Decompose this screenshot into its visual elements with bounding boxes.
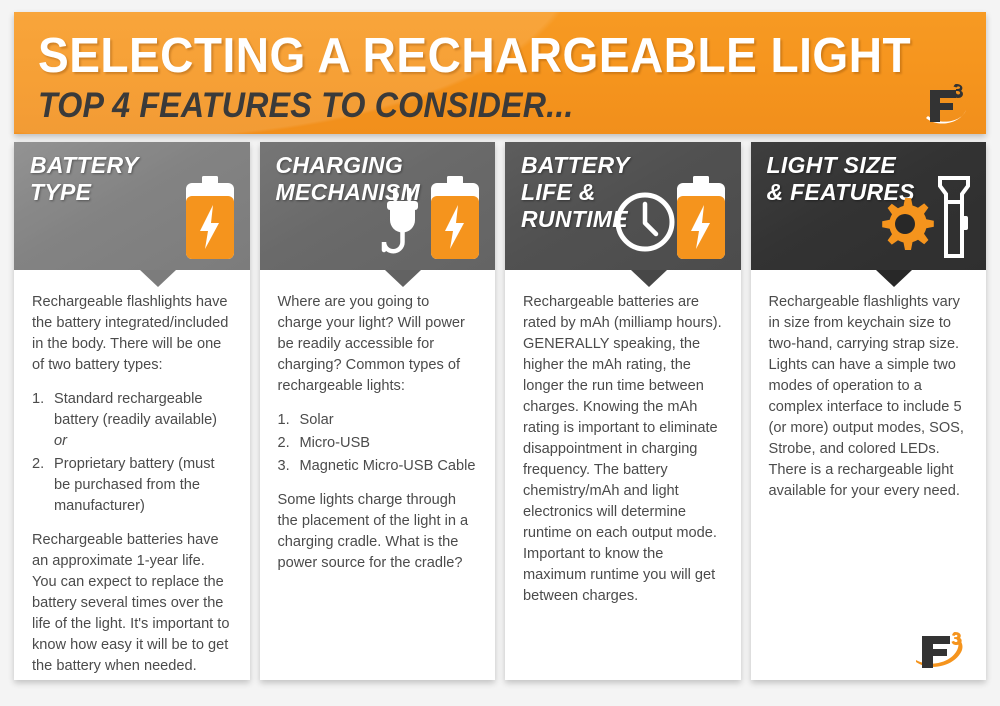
card-header-battery-type: BATTERY TYPE (14, 142, 250, 270)
card-title-line-2: LIFE & (521, 179, 596, 205)
card-light-size-features[interactable]: LIGHT SIZE & FEATURES R (751, 142, 987, 680)
card-body-charging-mechanism: Where are you going to charge your light… (260, 270, 496, 590)
battery-icon (182, 174, 238, 262)
f3-logo-footer-icon (910, 632, 968, 672)
paragraph: Rechargeable batteries have an approxima… (32, 530, 232, 677)
feature-cards-row: BATTERY TYPE Rechargeable flashlights ha… (14, 142, 986, 680)
card-body-battery-life-runtime: Rechargeable batteries are rated by mAh … (505, 270, 741, 623)
card-charging-mechanism[interactable]: CHARGING MECHANISM (260, 142, 496, 680)
paragraph: Where are you going to charge your light… (278, 292, 478, 397)
card-notch (385, 270, 421, 287)
battery-icon (427, 174, 483, 262)
card-title-line-2: TYPE (30, 179, 91, 205)
header-banner: SELECTING A RECHARGEABLE LIGHT TOP 4 FEA… (14, 12, 986, 134)
battery-icon (673, 174, 729, 262)
paragraph: Rechargeable flashlights have the batter… (32, 292, 232, 376)
list-item-suffix: or (54, 433, 67, 449)
infographic-page: SELECTING A RECHARGEABLE LIGHT TOP 4 FEA… (0, 0, 1000, 706)
card-battery-type[interactable]: BATTERY TYPE Rechargeable flashlights ha… (14, 142, 250, 680)
card-notch (140, 270, 176, 287)
clock-icon (613, 190, 677, 254)
card-header-battery-life-runtime: BATTERY LIFE & RUNTIME (505, 142, 741, 270)
card-title-line-1: BATTERY (30, 152, 139, 178)
list-item: Magnetic Micro-USB Cable (278, 456, 478, 477)
list-item: Proprietary battery (must be purchased f… (32, 454, 232, 517)
card-icon-group-light-size-features (874, 170, 974, 262)
card-body-light-size-features: Rechargeable flashlights vary in size fr… (751, 270, 987, 518)
list-item: Solar (278, 410, 478, 431)
card-header-light-size-features: LIGHT SIZE & FEATURES (751, 142, 987, 270)
paragraph: Some lights charge through the placement… (278, 490, 478, 574)
ordered-list: Standard rechargeable battery (readily a… (32, 389, 232, 517)
list-item: Standard rechargeable battery (readily a… (32, 389, 232, 452)
f3-logo-icon (916, 82, 970, 128)
card-notch (876, 270, 912, 287)
page-title: SELECTING A RECHARGEABLE LIGHT (38, 28, 911, 84)
page-subtitle: TOP 4 FEATURES TO CONSIDER... (38, 86, 574, 126)
paragraph: Rechargeable flashlights vary in size fr… (769, 292, 969, 502)
card-header-charging-mechanism: CHARGING MECHANISM (260, 142, 496, 270)
card-body-battery-type: Rechargeable flashlights have the batter… (14, 270, 250, 693)
card-title-battery-type: BATTERY TYPE (30, 152, 139, 206)
ordered-list: Solar Micro-USB Magnetic Micro-USB Cable (278, 410, 478, 477)
flashlight-icon (934, 172, 974, 262)
paragraph: Rechargeable batteries are rated by mAh … (523, 292, 723, 607)
card-icon-group-battery-life-runtime (613, 170, 729, 262)
card-notch (631, 270, 667, 287)
gear-icon (874, 196, 936, 258)
card-icon-group-charging-mechanism (379, 170, 483, 262)
list-item-text: Proprietary battery (must be purchased f… (54, 456, 215, 514)
list-item: Micro-USB (278, 433, 478, 454)
list-item-text: Standard rechargeable battery (readily a… (54, 391, 217, 428)
plug-icon (379, 182, 425, 260)
card-icon-group-battery-type (182, 170, 238, 262)
card-battery-life-runtime[interactable]: BATTERY LIFE & RUNTIME (505, 142, 741, 680)
